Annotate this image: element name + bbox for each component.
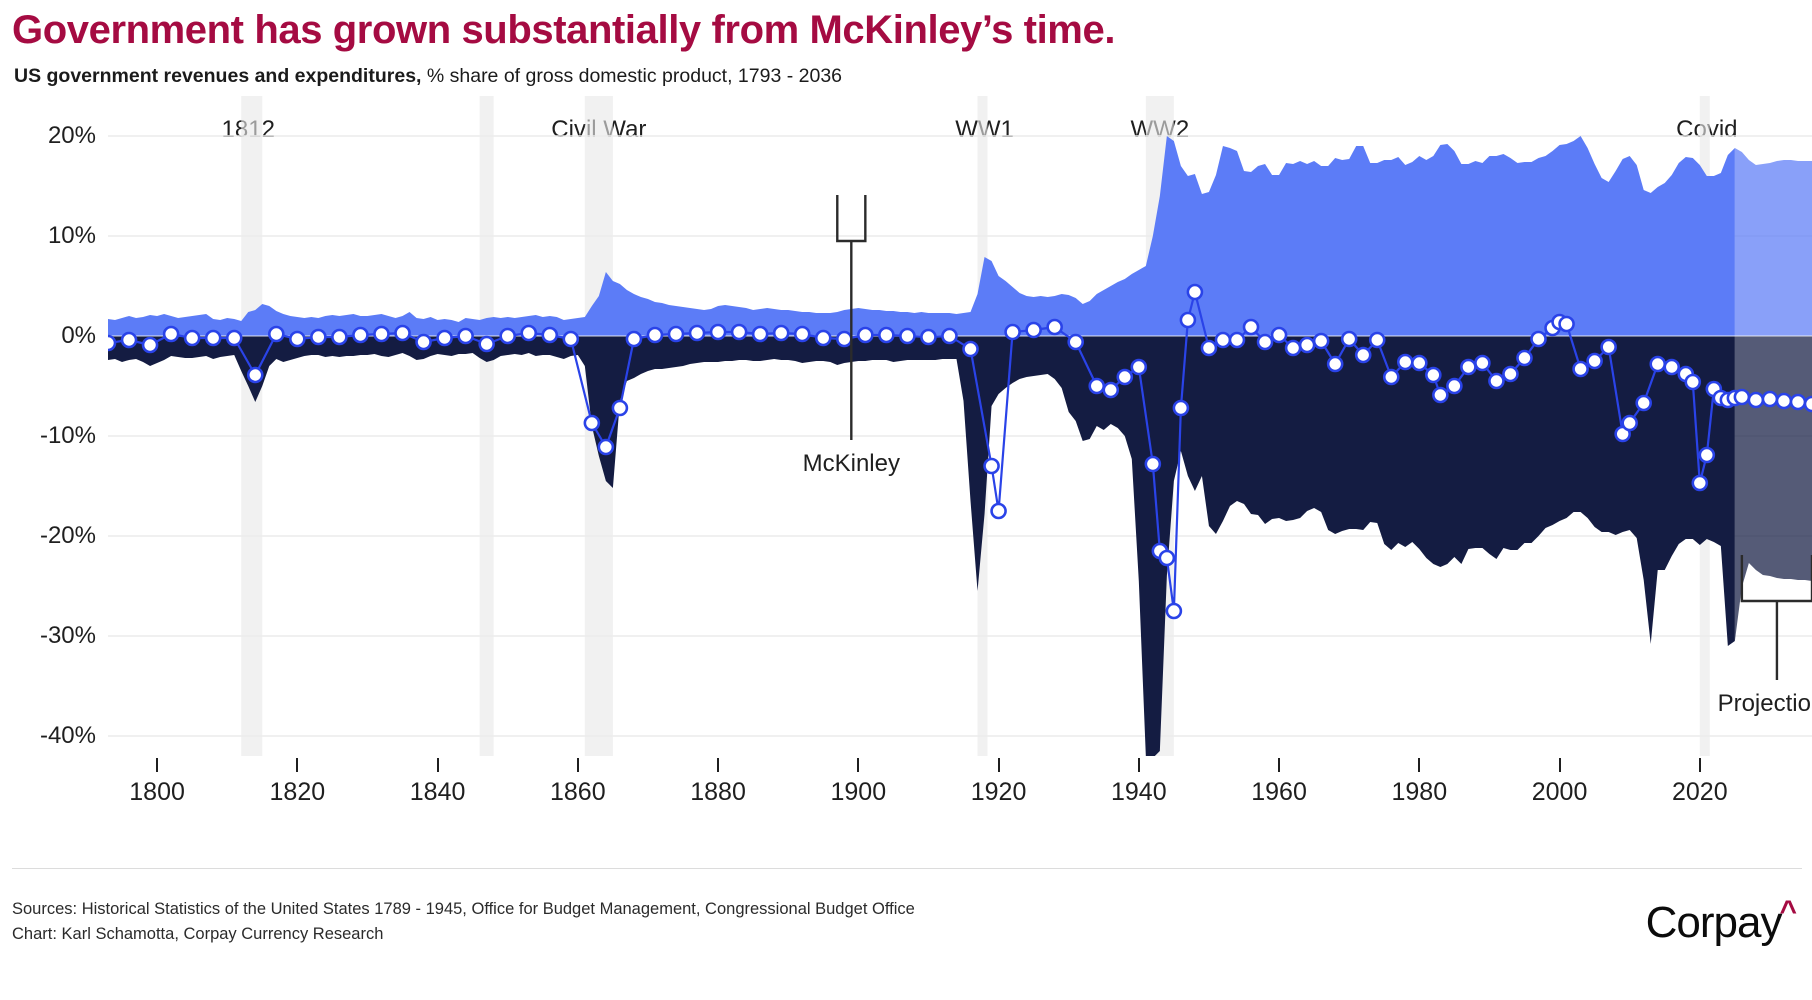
- balance-marker: [1272, 328, 1286, 342]
- balance-marker: [1006, 325, 1020, 339]
- x-axis-tick-mark: [1278, 758, 1280, 772]
- balance-marker: [1356, 348, 1370, 362]
- balance-marker: [1146, 457, 1160, 471]
- balance-marker: [1181, 313, 1195, 327]
- balance-marker: [774, 326, 788, 340]
- y-axis-tick-label: 20%: [6, 122, 96, 150]
- x-axis-tick-label: 1960: [1251, 778, 1307, 807]
- balance-marker: [1286, 341, 1300, 355]
- x-axis-tick-label: 1880: [690, 778, 746, 807]
- balance-marker: [1412, 356, 1426, 370]
- balance-marker: [164, 327, 178, 341]
- chart-svg: [108, 96, 1812, 756]
- x-axis-tick-mark: [1138, 758, 1140, 772]
- balance-marker: [942, 329, 956, 343]
- x-axis-tick-mark: [1418, 758, 1420, 772]
- balance-marker: [438, 331, 452, 345]
- page-subtitle: US government revenues and expenditures,…: [14, 65, 842, 88]
- balance-marker: [879, 328, 893, 342]
- balance-marker: [1602, 340, 1616, 354]
- balance-marker: [837, 332, 851, 346]
- balance-marker: [1574, 362, 1588, 376]
- corpay-logo: Corpay^: [1646, 895, 1796, 948]
- balance-marker: [564, 332, 578, 346]
- balance-marker: [599, 440, 613, 454]
- x-axis-tick-mark: [1699, 758, 1701, 772]
- x-axis-tick-mark: [998, 758, 1000, 772]
- balance-marker: [711, 325, 725, 339]
- x-axis-tick-mark: [717, 758, 719, 772]
- balance-marker: [459, 329, 473, 343]
- x-axis-tick-mark: [437, 758, 439, 772]
- balance-marker: [1489, 374, 1503, 388]
- plot-canvas: [108, 96, 1812, 756]
- balance-marker: [627, 332, 641, 346]
- balance-marker: [501, 329, 515, 343]
- balance-marker: [690, 326, 704, 340]
- balance-marker: [1132, 360, 1146, 374]
- balance-marker: [1258, 335, 1272, 349]
- balance-marker: [290, 332, 304, 346]
- sources-text: Sources: Historical Statistics of the Un…: [12, 900, 915, 919]
- balance-marker: [1791, 395, 1805, 409]
- balance-marker: [1370, 333, 1384, 347]
- balance-marker: [816, 331, 830, 345]
- balance-marker: [1244, 320, 1258, 334]
- x-axis-tick-label: 2000: [1532, 778, 1588, 807]
- balance-marker: [522, 326, 536, 340]
- balance-marker: [1588, 354, 1602, 368]
- balance-marker: [185, 331, 199, 345]
- balance-marker: [543, 328, 557, 342]
- x-axis-tick-label: 1920: [971, 778, 1027, 807]
- balance-marker: [1735, 390, 1749, 404]
- balance-marker: [992, 504, 1006, 518]
- logo-wordmark: Corpay: [1646, 898, 1782, 947]
- balance-marker: [1090, 379, 1104, 393]
- balance-marker: [1027, 323, 1041, 337]
- balance-marker: [1342, 332, 1356, 346]
- balance-marker: [585, 416, 599, 430]
- balance-marker: [1686, 375, 1700, 389]
- balance-marker: [1300, 338, 1314, 352]
- balance-marker: [143, 338, 157, 352]
- balance-marker: [1188, 285, 1202, 299]
- x-axis-tick-mark: [1559, 758, 1561, 772]
- balance-marker: [1104, 383, 1118, 397]
- x-axis-tick-label: 2020: [1672, 778, 1728, 807]
- balance-marker: [417, 335, 431, 349]
- era-band: [480, 96, 494, 756]
- era-band: [241, 96, 262, 756]
- balance-marker: [480, 337, 494, 351]
- balance-marker: [374, 327, 388, 341]
- x-axis-tick-mark: [296, 758, 298, 772]
- y-axis-tick-label: -20%: [6, 522, 96, 550]
- balance-marker: [1328, 357, 1342, 371]
- balance-marker: [1693, 476, 1707, 490]
- balance-marker: [1314, 334, 1328, 348]
- balance-marker: [1384, 370, 1398, 384]
- balance-marker: [311, 330, 325, 344]
- y-axis-tick-label: -30%: [6, 622, 96, 650]
- x-axis: 1800182018401860188019001920194019601980…: [0, 756, 1812, 826]
- balance-marker: [1069, 335, 1083, 349]
- balance-marker: [206, 331, 220, 345]
- balance-marker: [1560, 317, 1574, 331]
- balance-marker: [1426, 368, 1440, 382]
- balance-marker: [1447, 379, 1461, 393]
- balance-marker: [985, 459, 999, 473]
- chart-page: Government has grown substantially from …: [0, 0, 1812, 1000]
- balance-marker: [1398, 355, 1412, 369]
- balance-marker: [1517, 351, 1531, 365]
- balance-marker: [1475, 356, 1489, 370]
- x-axis-tick-label: 1900: [831, 778, 887, 807]
- balance-marker: [1637, 396, 1651, 410]
- balance-marker: [732, 325, 746, 339]
- x-axis-tick-mark: [857, 758, 859, 772]
- balance-marker: [1118, 370, 1132, 384]
- balance-marker: [1532, 332, 1546, 346]
- balance-marker: [795, 327, 809, 341]
- balance-marker: [1167, 604, 1181, 618]
- y-axis-tick-label: -40%: [6, 722, 96, 750]
- balance-marker: [1048, 320, 1062, 334]
- logo-caret-icon: ^: [1779, 895, 1796, 928]
- balance-marker: [613, 401, 627, 415]
- y-axis-tick-label: -10%: [6, 422, 96, 450]
- balance-marker: [900, 329, 914, 343]
- balance-marker: [1777, 394, 1791, 408]
- balance-marker: [1230, 333, 1244, 347]
- balance-marker: [1160, 551, 1174, 565]
- balance-marker: [108, 336, 115, 350]
- balance-marker: [858, 328, 872, 342]
- balance-marker: [1433, 388, 1447, 402]
- balance-marker: [396, 326, 410, 340]
- y-axis-tick-label: 10%: [6, 222, 96, 250]
- balance-marker: [248, 368, 262, 382]
- x-axis-tick-label: 1860: [550, 778, 606, 807]
- balance-marker: [921, 330, 935, 344]
- balance-marker: [1700, 448, 1714, 462]
- x-axis-tick-label: 1980: [1391, 778, 1447, 807]
- balance-marker: [964, 342, 978, 356]
- balance-marker: [1749, 393, 1763, 407]
- balance-marker: [1503, 367, 1517, 381]
- balance-marker: [1763, 392, 1777, 406]
- balance-marker: [122, 333, 136, 347]
- balance-marker: [669, 327, 683, 341]
- page-title: Government has grown substantially from …: [12, 8, 1115, 53]
- x-axis-tick-label: 1820: [270, 778, 326, 807]
- subtitle-lead: US government revenues and expenditures,: [14, 65, 421, 87]
- balance-marker: [648, 328, 662, 342]
- x-axis-tick-label: 1840: [410, 778, 466, 807]
- balance-marker: [1651, 357, 1665, 371]
- balance-marker: [332, 330, 346, 344]
- balance-marker: [753, 327, 767, 341]
- balance-marker: [1623, 416, 1637, 430]
- x-axis-tick-label: 1940: [1111, 778, 1167, 807]
- balance-marker: [1202, 341, 1216, 355]
- balance-marker: [353, 328, 367, 342]
- chart-credit-text: Chart: Karl Schamotta, Corpay Currency R…: [12, 925, 383, 944]
- area-expenditures: [108, 336, 1812, 756]
- balance-marker: [269, 327, 283, 341]
- x-axis-tick-mark: [156, 758, 158, 772]
- footer-divider: [12, 868, 1802, 869]
- x-axis-tick-label: 1800: [129, 778, 185, 807]
- subtitle-rest: % share of gross domestic product, 1793 …: [421, 65, 842, 87]
- balance-marker: [1461, 360, 1475, 374]
- x-axis-tick-mark: [577, 758, 579, 772]
- y-axis-tick-label: 0%: [6, 322, 96, 350]
- balance-marker: [227, 331, 241, 345]
- balance-marker: [1665, 360, 1679, 374]
- balance-marker: [1174, 401, 1188, 415]
- balance-marker: [1216, 333, 1230, 347]
- balance-marker: [1805, 397, 1812, 411]
- chart-area: 20%10%0%-10%-20%-30%-40% 1812Civil WarWW…: [0, 96, 1812, 756]
